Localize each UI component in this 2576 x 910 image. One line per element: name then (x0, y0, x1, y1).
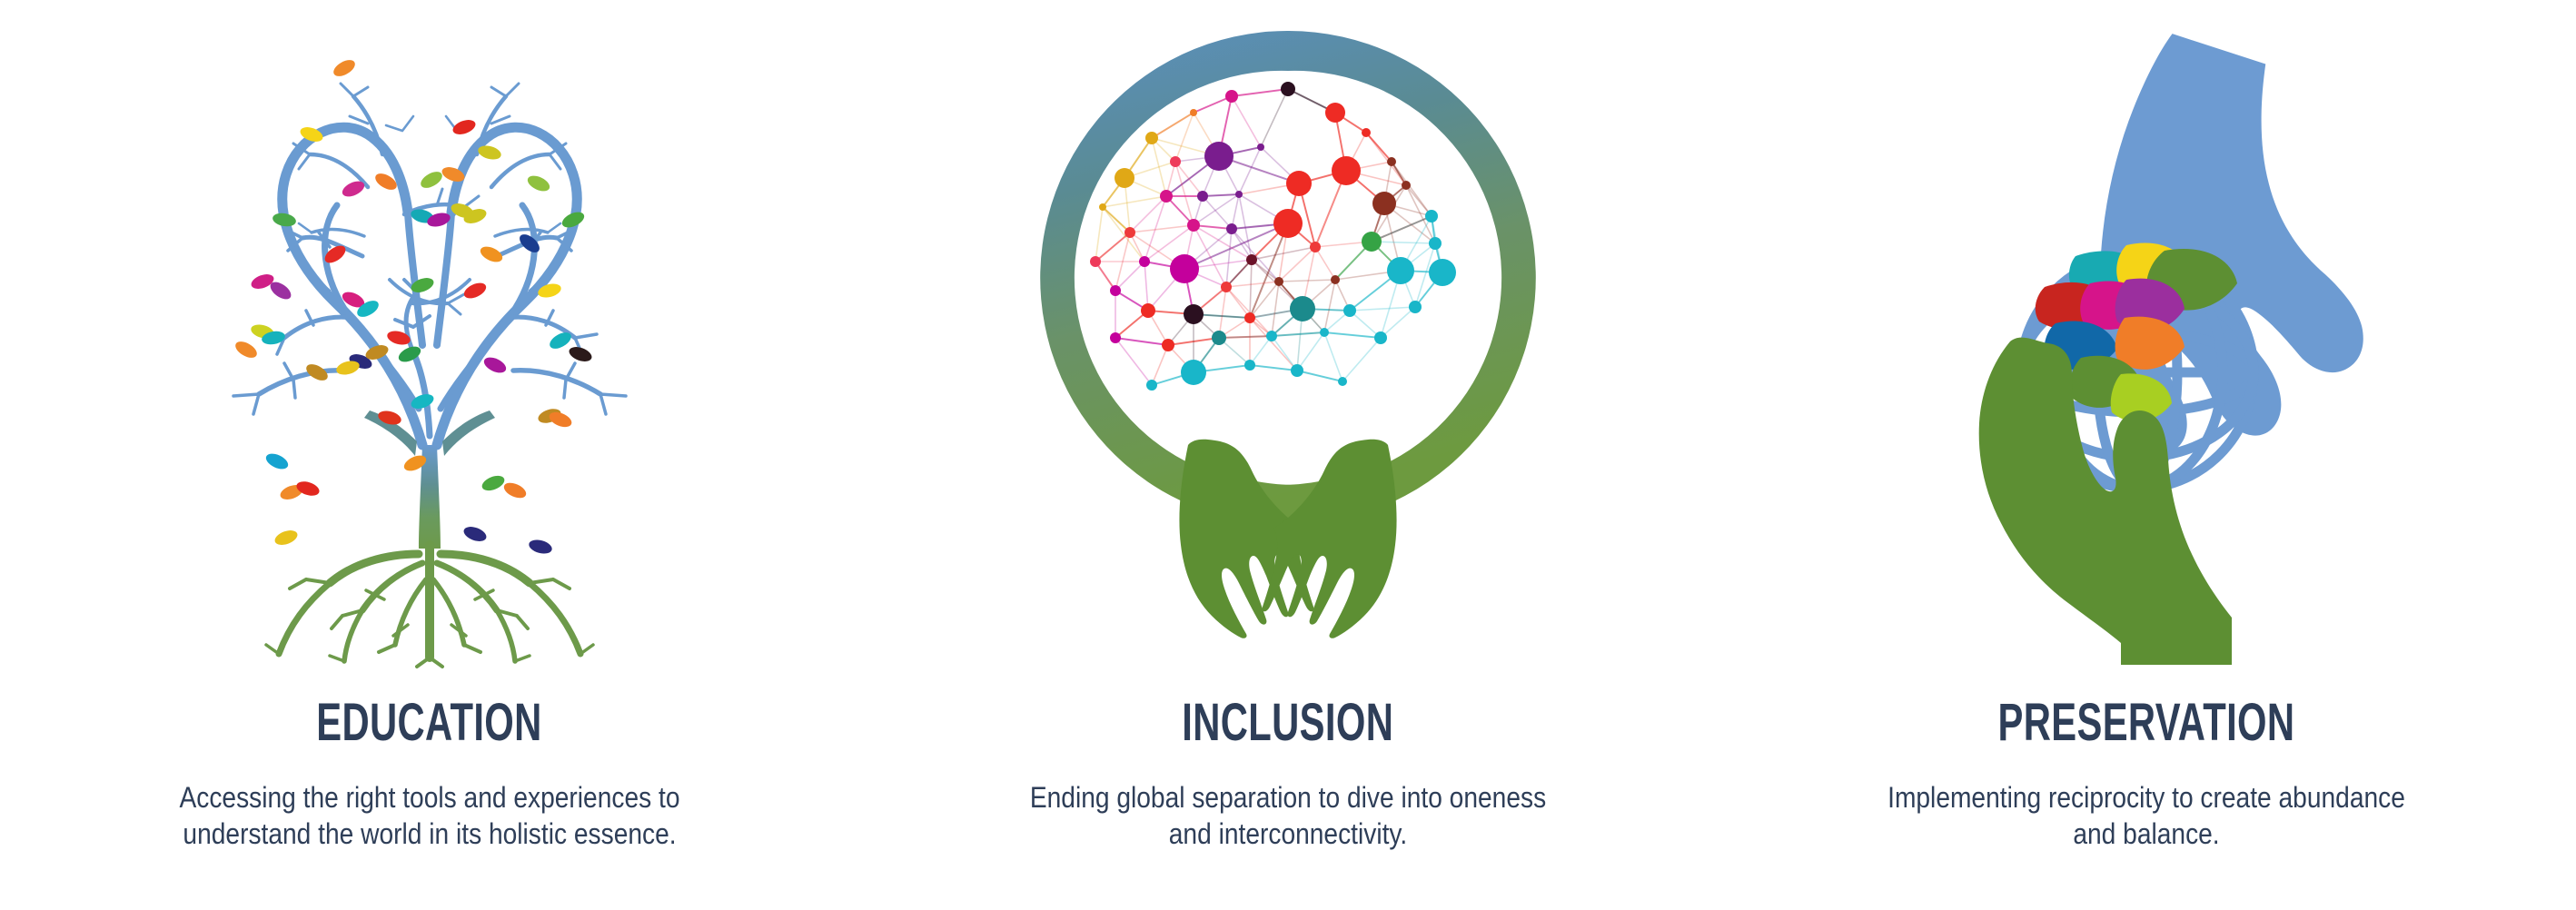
network-edge (1342, 338, 1381, 381)
tree-svg (175, 18, 684, 672)
network-node (1197, 191, 1208, 202)
tree-leaf (525, 173, 551, 194)
tree-leaf (418, 168, 445, 191)
tree-leaf (451, 117, 477, 137)
network-node (1274, 277, 1283, 286)
network-node (1190, 109, 1197, 116)
tree-leaf (461, 524, 488, 544)
network-node (1290, 296, 1315, 321)
network-node (1429, 259, 1456, 286)
network-node (1160, 190, 1173, 203)
network-node (1184, 304, 1204, 324)
network-node (1402, 181, 1411, 190)
hands-protecting-globe-with-leaves-icon (1718, 0, 2576, 690)
network-node (1204, 142, 1234, 171)
network-node (1181, 360, 1206, 385)
network-node (1170, 254, 1199, 283)
network-edge (1226, 282, 1279, 287)
network-edge (1103, 207, 1130, 232)
tree-leaf (272, 212, 297, 228)
tree-leaf (233, 338, 260, 361)
network-edge (1324, 332, 1381, 338)
network-node (1332, 156, 1361, 185)
network-edge (1175, 113, 1194, 162)
network-edge (1115, 338, 1152, 385)
network-node (1212, 331, 1226, 345)
network-edge (1152, 345, 1168, 385)
network-edge (1297, 332, 1324, 371)
network-edge (1219, 287, 1226, 338)
network-edge (1239, 147, 1261, 194)
network-edge (1279, 280, 1335, 282)
network-edge (1272, 336, 1297, 371)
network-edge (1272, 332, 1324, 336)
network-node (1225, 90, 1238, 103)
network-node (1281, 82, 1295, 96)
network-edge (1095, 207, 1103, 262)
network-node (1266, 331, 1277, 341)
network-node (1141, 303, 1155, 318)
network-node (1090, 256, 1101, 267)
network-node (1115, 168, 1134, 188)
tree-leaf (272, 528, 299, 548)
network-node (1409, 301, 1422, 313)
heart-tree-with-roots-icon (0, 0, 858, 690)
network-node (1273, 209, 1303, 238)
feature-column-education: EDUCATION Accessing the right tools and … (0, 0, 858, 910)
network-node (1246, 254, 1257, 265)
network-edge (1203, 196, 1232, 229)
network-sphere-svg (1016, 18, 1560, 672)
network-node (1187, 219, 1200, 232)
network-edge (1203, 194, 1239, 196)
network-edge (1175, 162, 1203, 196)
network-edge (1315, 247, 1335, 280)
card-body-education: Accessing the right tools and experience… (150, 779, 709, 852)
network-edge (1297, 371, 1342, 381)
feature-column-inclusion: INCLUSION Ending global separation to di… (858, 0, 1717, 910)
network-node (1429, 237, 1442, 250)
network-node (1291, 364, 1303, 377)
network-node (1338, 377, 1347, 386)
network-edge (1261, 89, 1288, 147)
network-edge (1144, 262, 1148, 311)
network-node (1139, 256, 1150, 267)
hands-holding-network-sphere-icon (858, 0, 1717, 690)
tree-leaf (331, 56, 358, 79)
network-node (1362, 232, 1382, 252)
network-node (1372, 192, 1396, 215)
network-node (1387, 257, 1414, 284)
card-heading-education: EDUCATION (316, 690, 541, 756)
network-node (1362, 128, 1371, 137)
network-node (1146, 380, 1157, 391)
network-node (1170, 156, 1181, 167)
network-node (1325, 103, 1345, 123)
feature-row: EDUCATION Accessing the right tools and … (0, 0, 2576, 910)
card-body-inclusion: Ending global separation to dive into on… (1008, 779, 1568, 852)
globe-hands-svg (1865, 18, 2428, 672)
network-edge (1152, 113, 1194, 138)
network-edge (1250, 260, 1252, 318)
network-node (1099, 203, 1106, 211)
network-node (1125, 227, 1135, 238)
network-node (1374, 331, 1387, 344)
network-node (1320, 328, 1329, 337)
network-edge (1250, 365, 1297, 371)
tree-leaf (501, 480, 528, 500)
network-edge (1115, 338, 1168, 345)
network-edge (1324, 332, 1342, 381)
network-node (1286, 171, 1312, 196)
network-node (1221, 282, 1232, 292)
network-node (1226, 223, 1237, 234)
card-body-preservation: Implementing reciprocity to create abund… (1867, 779, 2426, 852)
network-node (1244, 360, 1255, 371)
network-node (1343, 304, 1356, 317)
network-node (1235, 191, 1243, 198)
tree-leaf (263, 450, 290, 472)
tree-leaf (480, 473, 506, 494)
feature-column-preservation: PRESERVATION Implementing reciprocity to… (1718, 0, 2576, 910)
network-node (1331, 275, 1340, 284)
network-edge (1226, 260, 1252, 287)
network-edge (1219, 336, 1272, 338)
network-edge (1095, 232, 1130, 262)
network-edge (1232, 96, 1261, 147)
network-node (1110, 285, 1121, 296)
network-node (1257, 143, 1264, 151)
network-node (1310, 242, 1321, 252)
tree-leaf (527, 538, 553, 556)
network-edge (1232, 89, 1288, 96)
network-edge (1226, 229, 1232, 287)
network-node (1244, 312, 1255, 323)
network-edge (1350, 307, 1415, 311)
network-node (1110, 332, 1121, 343)
gradient-ring (1040, 31, 1536, 525)
tree-leaf (481, 354, 508, 376)
network-edge (1103, 207, 1144, 262)
network-node (1425, 210, 1438, 223)
card-heading-inclusion: INCLUSION (1182, 690, 1393, 756)
network-node (1145, 132, 1158, 144)
tree-leaf (478, 243, 504, 265)
network-node (1387, 157, 1396, 166)
card-heading-preservation: PRESERVATION (1998, 690, 2295, 756)
network-node (1162, 339, 1174, 351)
